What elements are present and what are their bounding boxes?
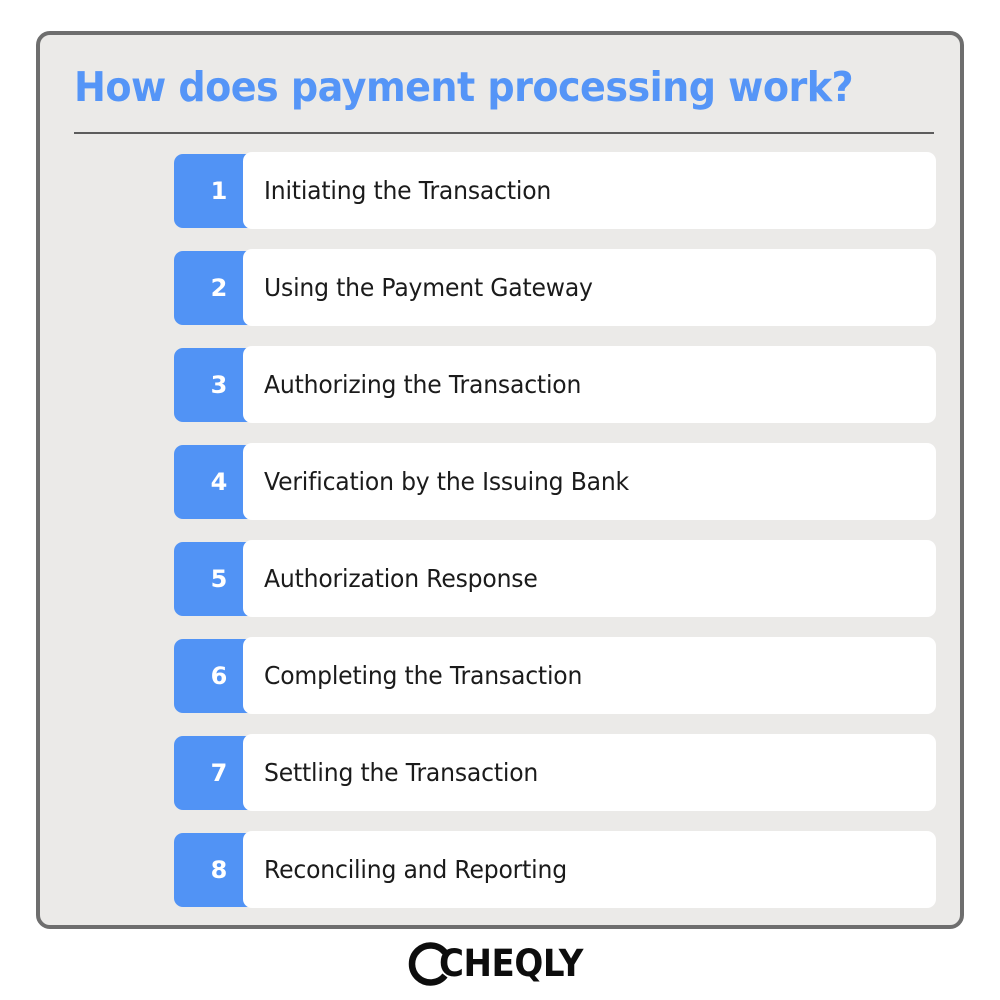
footer-brand: CHEQLY [0, 936, 1000, 992]
step-card[interactable]: Completing the Transaction [243, 637, 936, 714]
step-label: Completing the Transaction [264, 637, 881, 714]
step-label: Reconciling and Reporting [264, 831, 881, 908]
step-label: Verification by the Issuing Bank [264, 443, 881, 520]
list-item[interactable]: 1 Initiating the Transaction [174, 152, 936, 229]
list-item[interactable]: 8 Reconciling and Reporting [174, 831, 936, 908]
step-card[interactable]: Initiating the Transaction [243, 152, 936, 229]
page-title: How does payment processing work? [74, 61, 876, 113]
list-item[interactable]: 6 Completing the Transaction [174, 637, 936, 714]
infographic-root: How does payment processing work? 1 Init… [0, 0, 1000, 1000]
list-item[interactable]: 7 Settling the Transaction [174, 734, 936, 811]
step-label: Authorization Response [264, 540, 881, 617]
step-label: Settling the Transaction [264, 734, 881, 811]
step-card[interactable]: Reconciling and Reporting [243, 831, 936, 908]
list-item[interactable]: 2 Using the Payment Gateway [174, 249, 936, 326]
step-label: Initiating the Transaction [264, 152, 881, 229]
step-label: Authorizing the Transaction [264, 346, 881, 423]
steps-list: 1 Initiating the Transaction 2 Using the… [174, 152, 936, 908]
step-card[interactable]: Verification by the Issuing Bank [243, 443, 936, 520]
step-card[interactable]: Settling the Transaction [243, 734, 936, 811]
circle-c-logo-icon [405, 940, 453, 988]
step-card[interactable]: Authorization Response [243, 540, 936, 617]
list-item[interactable]: 4 Verification by the Issuing Bank [174, 443, 936, 520]
title-divider [74, 132, 934, 134]
list-item[interactable]: 3 Authorizing the Transaction [174, 346, 936, 423]
brand-wordmark: CHEQLY [439, 940, 583, 988]
step-label: Using the Payment Gateway [264, 249, 881, 326]
content-panel: How does payment processing work? 1 Init… [36, 31, 964, 929]
step-card[interactable]: Using the Payment Gateway [243, 249, 936, 326]
step-card[interactable]: Authorizing the Transaction [243, 346, 936, 423]
logo-wrap: CHEQLY [405, 938, 595, 990]
list-item[interactable]: 5 Authorization Response [174, 540, 936, 617]
